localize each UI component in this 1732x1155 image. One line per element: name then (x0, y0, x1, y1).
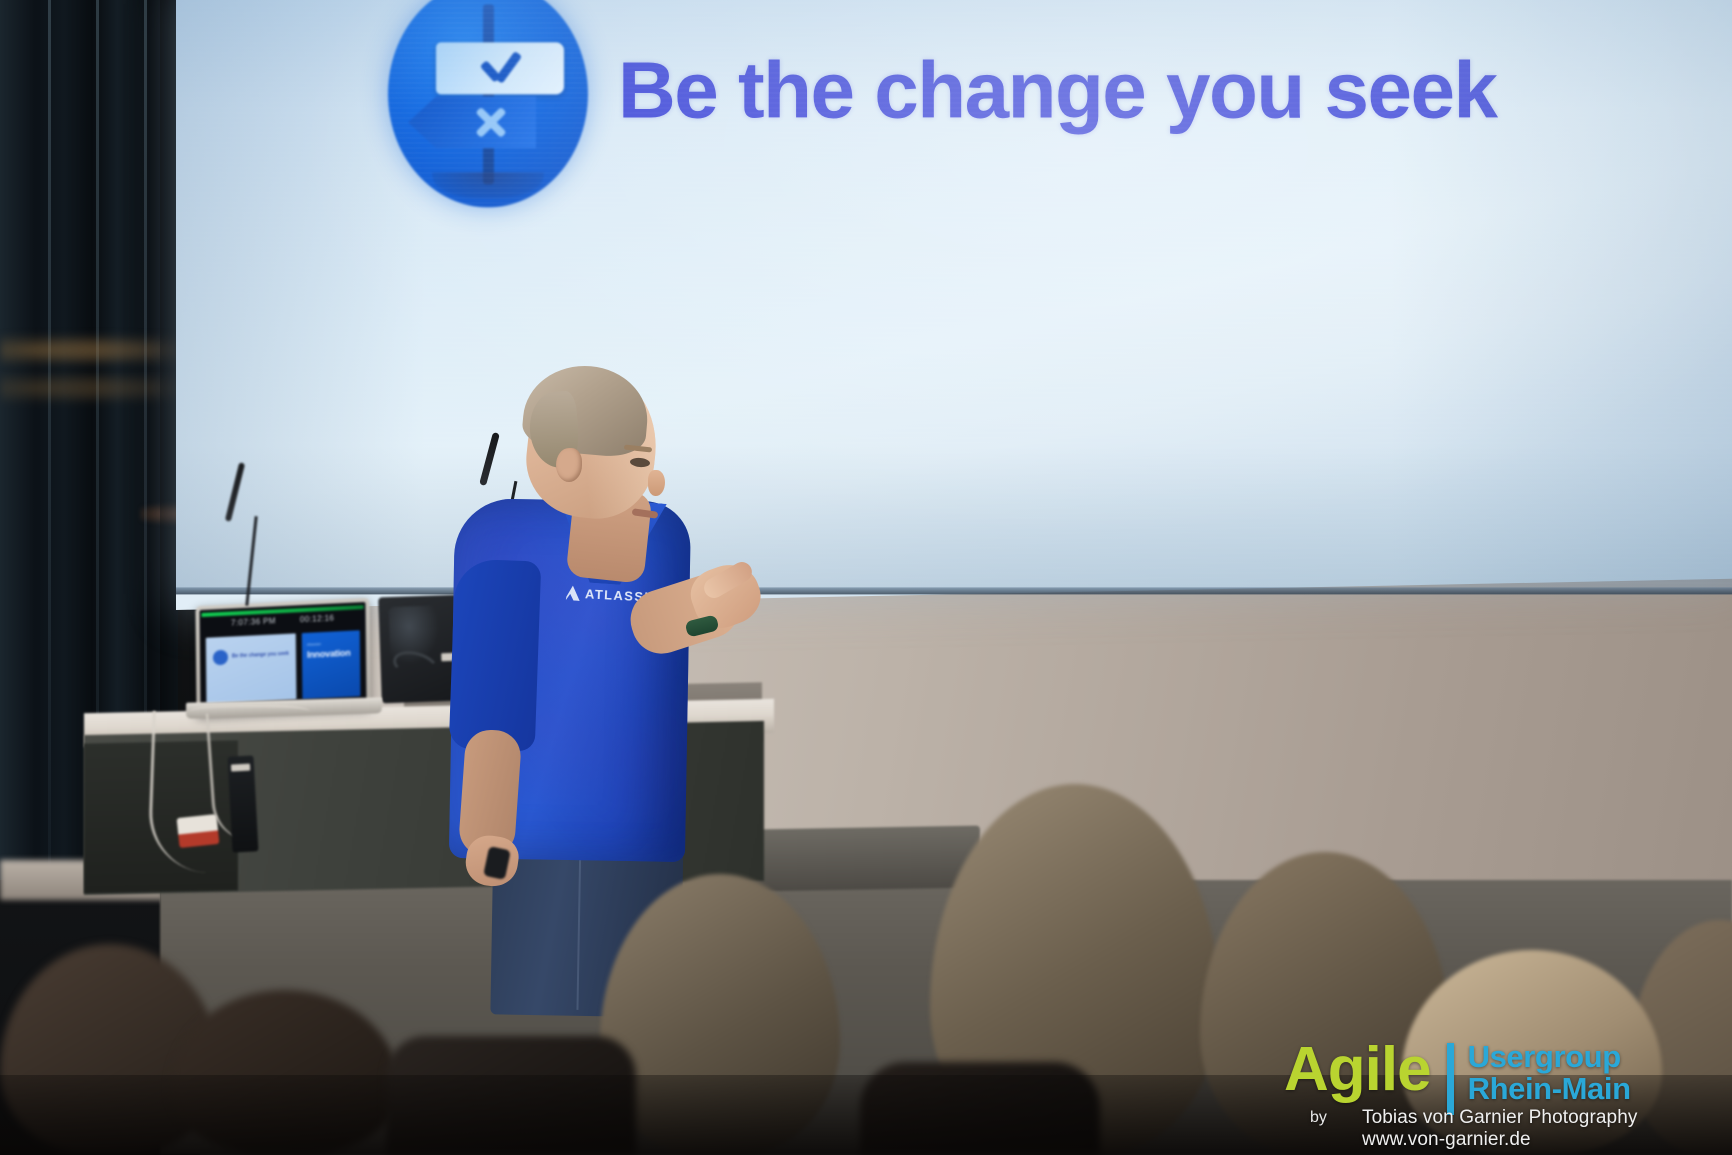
watermark-url: www.von-garnier.de (1362, 1129, 1531, 1151)
signpost-icon (388, 0, 588, 207)
watermark-divider (1447, 1043, 1454, 1115)
window-city-lights (0, 368, 178, 408)
laptop-screen: 7:07:36 PM 00:12:16 Current slide Be the… (199, 602, 366, 710)
speaker-sleeve (449, 559, 542, 752)
presenter-current-slide: Current slide Be the change you seek (206, 633, 297, 703)
watermark-by-label: by (1310, 1109, 1327, 1127)
watermark-brand-row: Agile Usergroup Rhein-Main (1284, 1041, 1631, 1115)
watermark-credit: Tobias von Garnier Photography (1362, 1107, 1638, 1129)
projection-screen: Be the change you seek (176, 0, 1732, 610)
current-slide-label: Current slide (210, 633, 230, 634)
presenter-clock: 7:07:36 PM (231, 616, 276, 630)
presenter-elapsed: 00:12:16 (300, 613, 334, 627)
presenter-next-slide: Next slide Atlassian Innovation (302, 630, 361, 699)
next-slide-eyebrow: Atlassian (307, 642, 321, 647)
check-icon (473, 51, 527, 85)
atlassian-logo-icon (566, 585, 581, 601)
watermark: Agile Usergroup Rhein-Main by Tobias von… (1284, 1041, 1724, 1151)
sign-check-board (436, 42, 564, 94)
window-city-lights (0, 330, 178, 370)
watermark-group-line1: Usergroup (1468, 1039, 1621, 1074)
watermark-group: Usergroup Rhein-Main (1468, 1041, 1631, 1105)
sign-cross-board (408, 96, 536, 148)
adapter-label (231, 764, 250, 772)
slide-thumb-title: Be the change you seek (232, 651, 289, 660)
watermark-brand: Agile (1284, 1041, 1431, 1098)
speaker-ear (556, 448, 582, 482)
slide-thumb-icon (213, 650, 228, 666)
slide-title: Be the change you seek (618, 44, 1496, 136)
watermark-group-line2: Rhein-Main (1468, 1071, 1631, 1106)
window-mullion (48, 0, 51, 880)
power-adapter (228, 755, 259, 852)
jeans-seam (576, 840, 581, 1010)
next-slide-title: Innovation (307, 648, 351, 660)
screen-bottom-edge (176, 587, 1732, 594)
photo-canvas: Be the change you seek 7:07:36 PM 00:12:… (0, 0, 1732, 1155)
power-plug (177, 814, 220, 848)
close-icon (472, 103, 510, 141)
presenter-thumbnails: Current slide Be the change you seek Nex… (206, 630, 361, 703)
signpost-base (432, 172, 544, 198)
